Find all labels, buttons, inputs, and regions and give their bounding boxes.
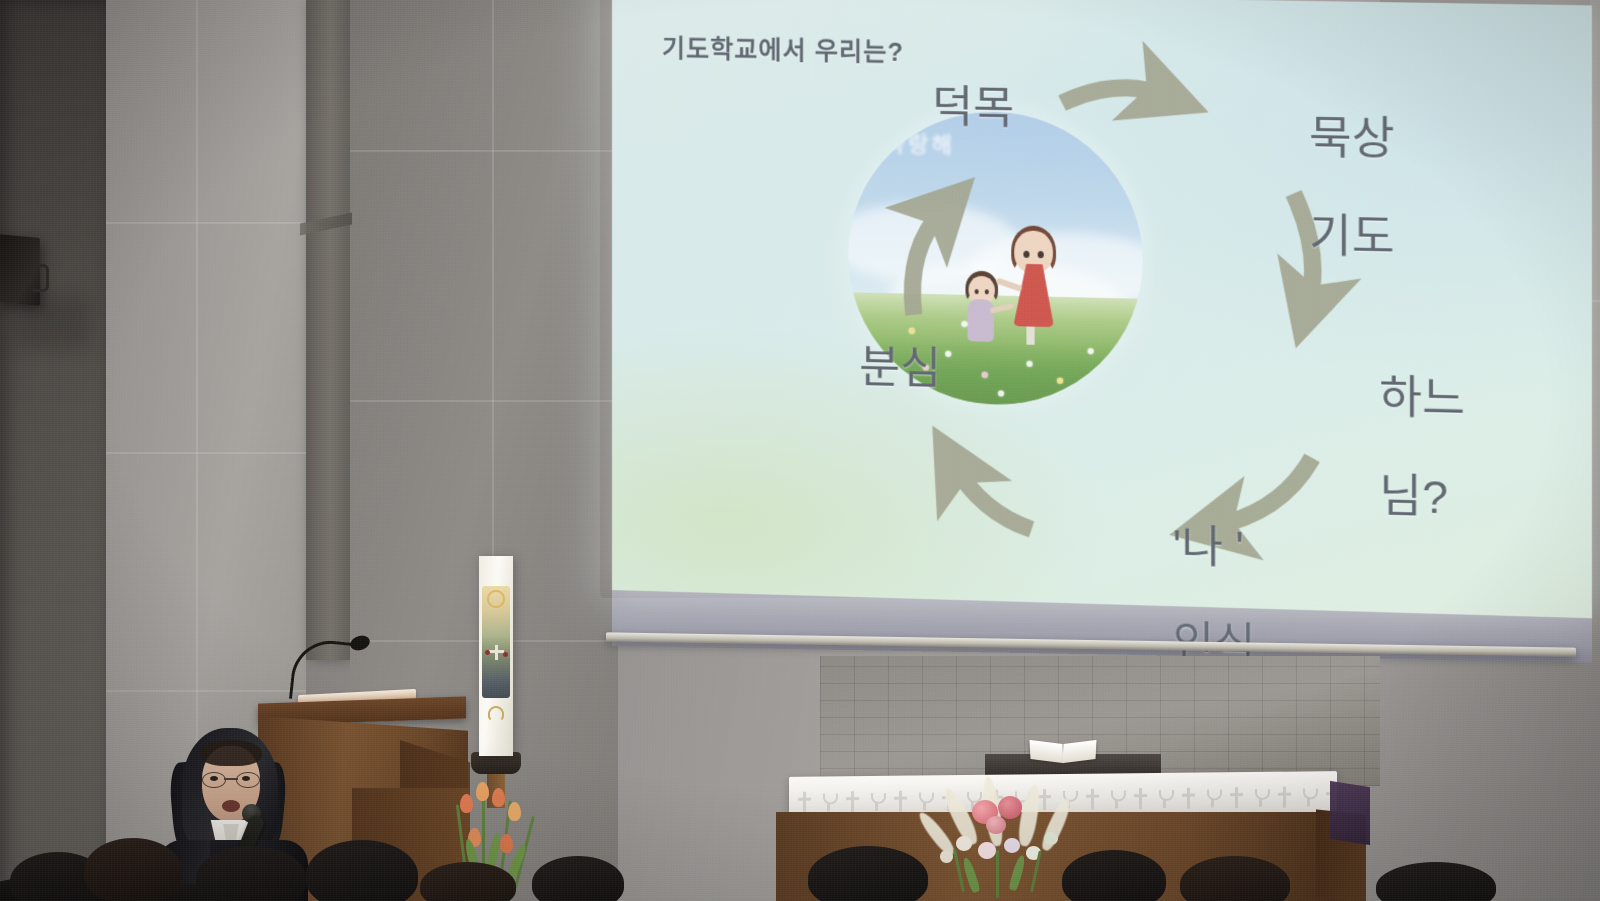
label-line-1: '나 ' <box>1173 522 1244 574</box>
presenter-mouth <box>222 800 240 812</box>
alpha-symbol-icon <box>487 590 505 608</box>
screenshot-scene: 기도학교에서 우리는? 사랑해 <box>0 0 1600 901</box>
audience-head <box>196 846 306 901</box>
label-line-1: 하느 <box>1379 371 1465 425</box>
label-line-2: 기도 <box>1309 210 1394 264</box>
label-line-2: 님? <box>1379 470 1448 524</box>
cycle-label-bunsim: 분심 <box>859 344 941 394</box>
audience-head <box>84 838 182 901</box>
arrow-na-to-bunsim <box>954 465 1031 530</box>
arrow-deokmok-to-muksang <box>1062 87 1166 105</box>
purple-drape <box>1330 781 1370 845</box>
cycle-label-muksang-gido: 묵상 기도 <box>1181 62 1395 313</box>
audience-head <box>808 846 928 901</box>
glasses-icon <box>202 772 260 786</box>
speaker-bracket <box>33 264 49 292</box>
wall-seam <box>106 690 306 692</box>
label-line-1: 묵상 <box>1309 111 1394 164</box>
wall-seam <box>350 150 618 152</box>
wall-seam <box>492 0 494 560</box>
wall-column-dark <box>0 0 106 901</box>
cycle-label-deokmok: 덕목 <box>932 84 1014 133</box>
projected-slide: 기도학교에서 우리는? 사랑해 <box>612 0 1592 618</box>
arrow-bunsim-to-deokmok <box>912 208 944 315</box>
cycle-label-haneunim: 하느 님? <box>1250 320 1465 572</box>
slide-content: 기도학교에서 우리는? 사랑해 <box>612 0 1592 618</box>
wall-seam <box>106 222 306 224</box>
wall-seam <box>106 452 306 454</box>
wall-pillar <box>306 0 350 660</box>
cross-icon <box>489 645 504 660</box>
audience-head <box>1062 850 1166 901</box>
projection-screen[interactable]: 기도학교에서 우리는? 사랑해 <box>612 0 1584 658</box>
wall-seam <box>350 400 618 402</box>
presenter-hairline <box>200 740 262 766</box>
audience-head <box>532 856 624 901</box>
open-lectionary <box>1030 742 1096 761</box>
audience-head <box>306 840 418 901</box>
omega-symbol-icon <box>488 706 504 722</box>
